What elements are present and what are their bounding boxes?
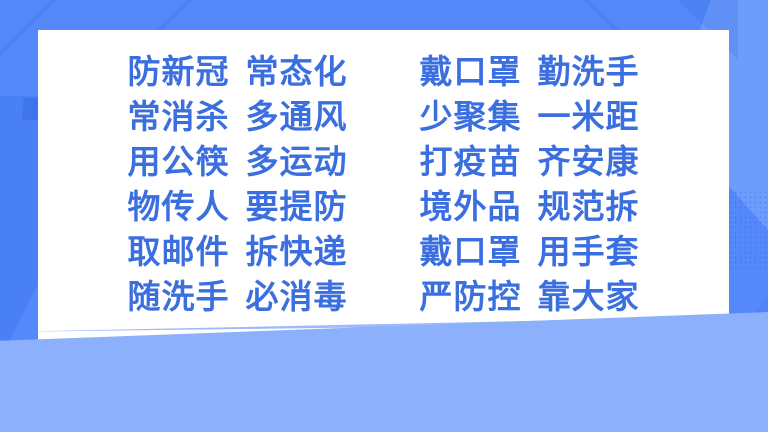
slogan-row: 取邮件 拆快递	[128, 232, 348, 273]
slogan-phrase: 戴口罩	[420, 232, 522, 273]
slogan-phrase: 多运动	[246, 142, 348, 183]
slogan-row: 用公筷 多运动	[128, 142, 348, 183]
slogan-phrase: 必消毒	[246, 277, 348, 318]
slogan-row: 少聚集 一米距	[420, 97, 640, 138]
slogan-phrase: 物传人	[128, 187, 230, 228]
slogan-phrase: 打疫苗	[420, 142, 522, 183]
slogan-phrase: 拆快递	[246, 232, 348, 273]
slogan-column-right: 戴口罩 勤洗手 少聚集 一米距 打疫苗 齐安康 境外品 规范拆 戴口罩 用手	[420, 52, 640, 317]
slogan-phrase: 靠大家	[538, 277, 640, 318]
slogan-phrase: 常态化	[246, 52, 348, 93]
slogan-phrase: 戴口罩	[420, 52, 522, 93]
slogan-phrase: 用公筷	[128, 142, 230, 183]
poster-canvas: 防新冠 常态化 常消杀 多通风 用公筷 多运动 物传人 要提防 取邮件 拆快	[0, 0, 768, 432]
slogan-phrase: 一米距	[538, 97, 640, 138]
slogan-phrase: 防新冠	[128, 52, 230, 93]
slogan-phrase: 常消杀	[128, 97, 230, 138]
slogan-phrase: 要提防	[246, 187, 348, 228]
slogan-row: 境外品 规范拆	[420, 187, 640, 228]
slogan-phrase: 用手套	[538, 232, 640, 273]
slogan-row: 防新冠 常态化	[128, 52, 348, 93]
slogan-row: 打疫苗 齐安康	[420, 142, 640, 183]
slogan-row: 随洗手 必消毒	[128, 277, 348, 318]
slogan-columns: 防新冠 常态化 常消杀 多通风 用公筷 多运动 物传人 要提防 取邮件 拆快	[128, 52, 640, 317]
slogan-row: 严防控 靠大家	[420, 277, 640, 318]
slogan-phrase: 严防控	[420, 277, 522, 318]
slogan-row: 物传人 要提防	[128, 187, 348, 228]
slogan-row: 戴口罩 勤洗手	[420, 52, 640, 93]
slogan-phrase: 多通风	[246, 97, 348, 138]
slogan-phrase: 随洗手	[128, 277, 230, 318]
slogan-row: 戴口罩 用手套	[420, 232, 640, 273]
slogan-phrase: 勤洗手	[538, 52, 640, 93]
slogan-phrase: 齐安康	[538, 142, 640, 183]
slogan-row: 常消杀 多通风	[128, 97, 348, 138]
accent-chip-left	[22, 98, 38, 120]
slogan-phrase: 取邮件	[128, 232, 230, 273]
slogan-grid: 防新冠 常态化 常消杀 多通风 用公筷 多运动 物传人 要提防 取邮件 拆快	[38, 30, 729, 340]
slogan-phrase: 少聚集	[420, 97, 522, 138]
slogan-column-left: 防新冠 常态化 常消杀 多通风 用公筷 多运动 物传人 要提防 取邮件 拆快	[128, 52, 348, 317]
slogan-phrase: 境外品	[420, 187, 522, 228]
slogan-phrase: 规范拆	[538, 187, 640, 228]
